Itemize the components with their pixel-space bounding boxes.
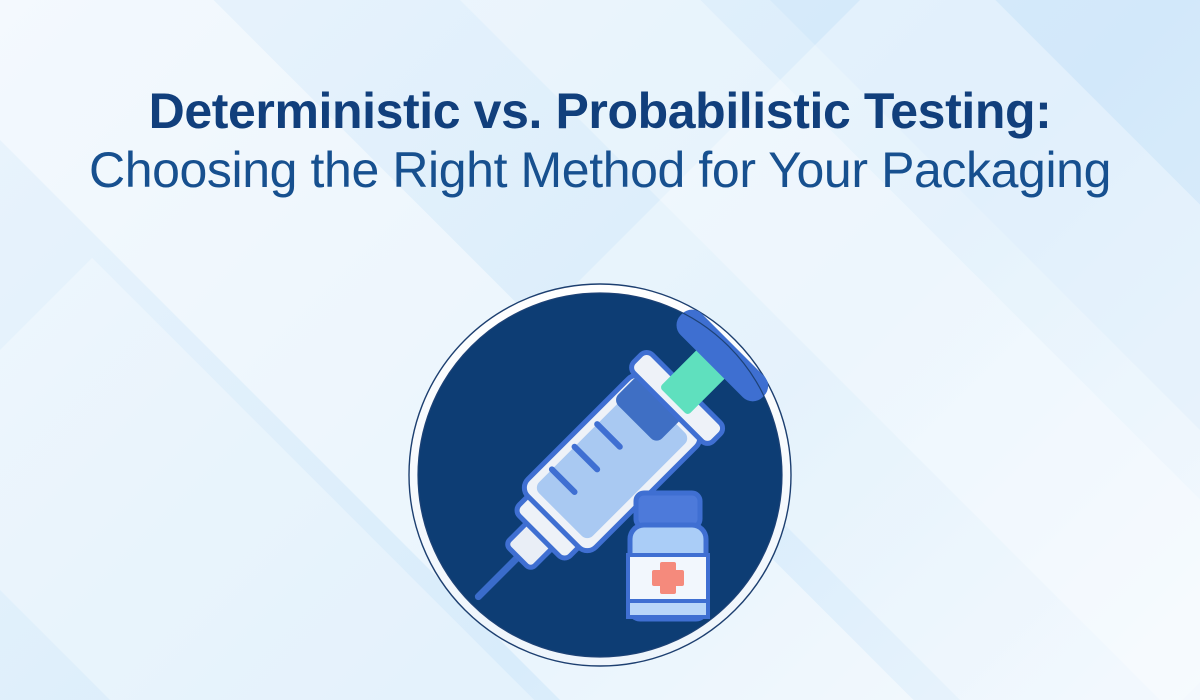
syringe-and-vial-emblem — [404, 279, 796, 671]
vial-cap — [636, 493, 700, 527]
medicine-vial-icon — [628, 493, 708, 619]
page-title-light-segment: Choosing the Right Method for Your Packa… — [89, 142, 1111, 198]
banner-graphic: Deterministic vs. Probabilistic Testing:… — [0, 0, 1200, 700]
page-title-bold-segment: Deterministic vs. Probabilistic Testing: — [149, 83, 1052, 139]
page-title: Deterministic vs. Probabilistic Testing:… — [0, 82, 1200, 200]
vial-bottom-band — [628, 601, 708, 617]
